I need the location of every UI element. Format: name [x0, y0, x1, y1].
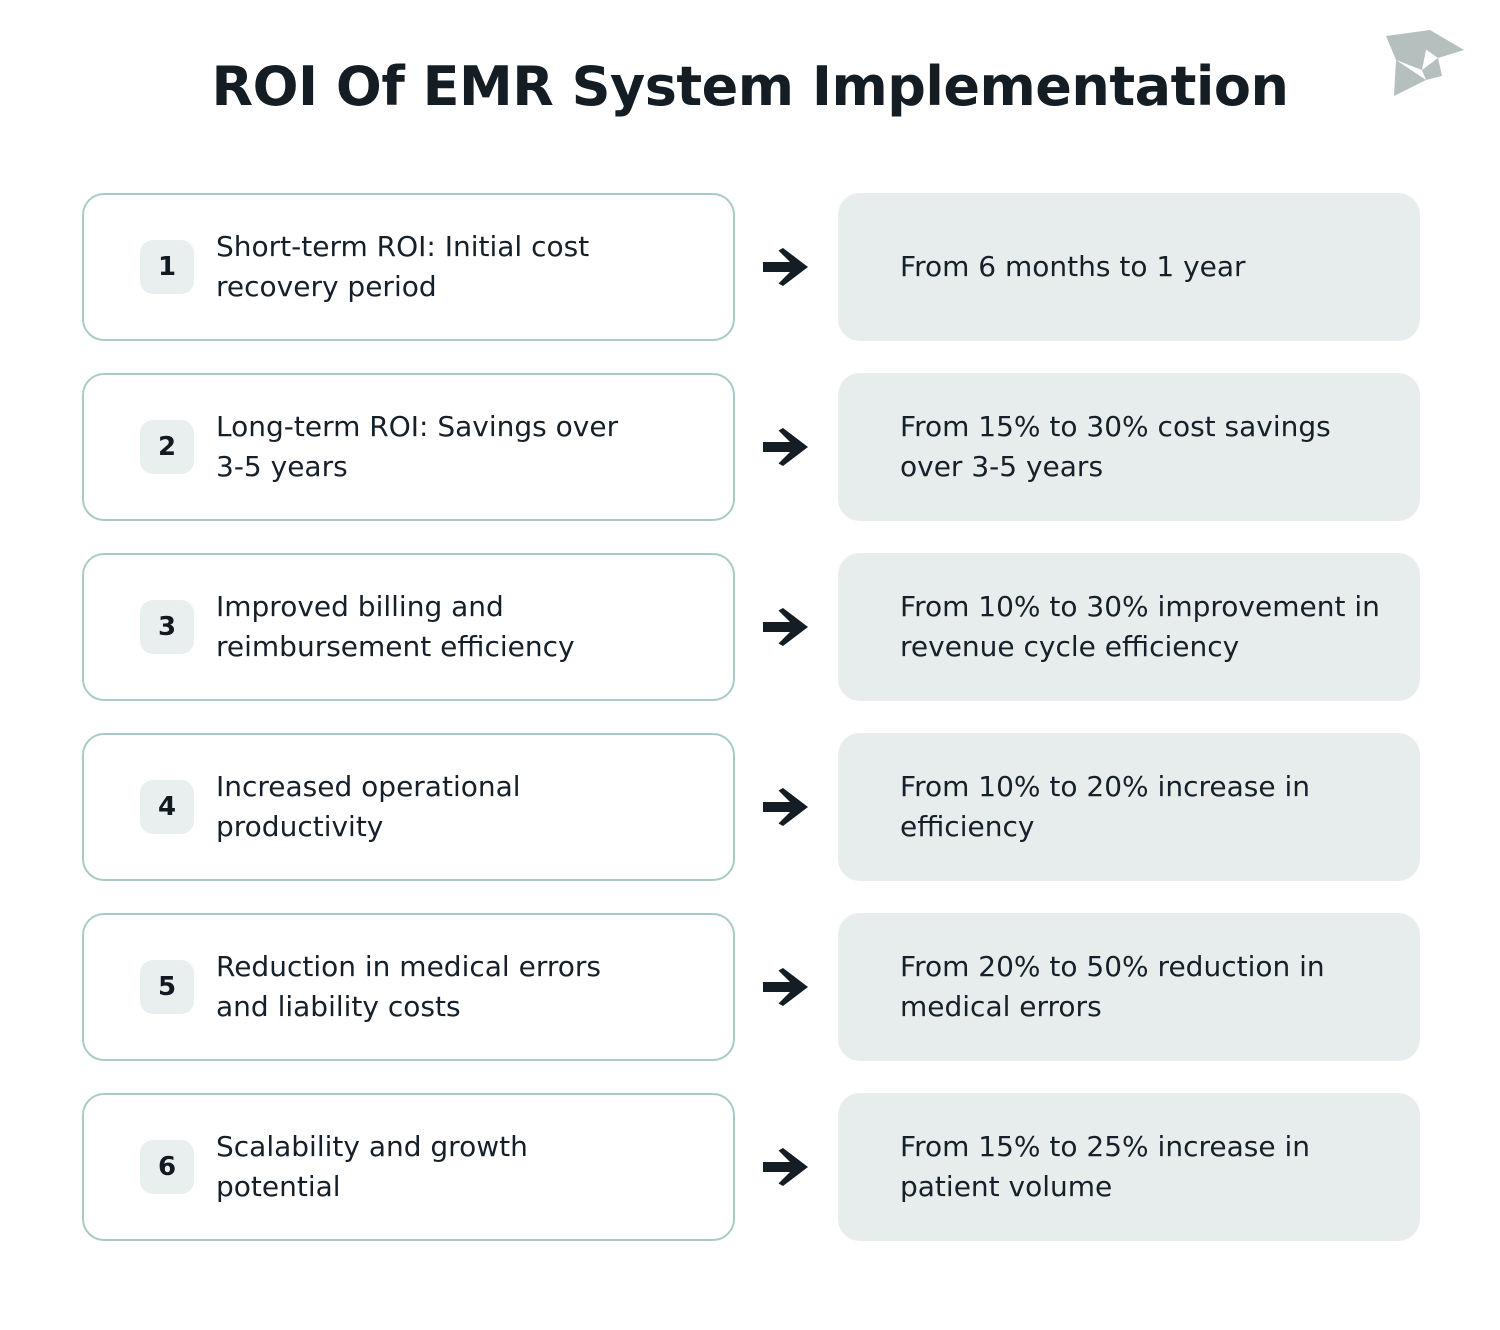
step-number-badge: 3	[140, 600, 194, 654]
outcome-label: From 20% to 50% reduction in medical err…	[900, 947, 1392, 1027]
step-number-badge: 6	[140, 1140, 194, 1194]
outcome-card-6[interactable]: From 15% to 25% increase in patient volu…	[838, 1093, 1420, 1241]
factor-card-6[interactable]: 6 Scalability and growth potential	[82, 1093, 735, 1241]
arrow-right-icon	[735, 913, 838, 1061]
outcome-label: From 10% to 30% improvement in revenue c…	[900, 587, 1392, 667]
outcome-label: From 15% to 25% increase in patient volu…	[900, 1127, 1392, 1207]
step-number-badge: 4	[140, 780, 194, 834]
roi-row: 5 Reduction in medical errors and liabil…	[82, 913, 1420, 1061]
factor-label: Improved billing and reimbursement effic…	[216, 587, 636, 667]
factor-card-5[interactable]: 5 Reduction in medical errors and liabil…	[82, 913, 735, 1061]
outcome-card-3[interactable]: From 10% to 30% improvement in revenue c…	[838, 553, 1420, 701]
roi-row: 2 Long-term ROI: Savings over 3-5 years …	[82, 373, 1420, 521]
arrow-right-icon	[735, 373, 838, 521]
factor-label: Scalability and growth potential	[216, 1127, 636, 1207]
roi-row: 4 Increased operational productivity Fro…	[82, 733, 1420, 881]
roi-row: 1 Short-term ROI: Initial cost recovery …	[82, 193, 1420, 341]
arrow-right-icon	[735, 733, 838, 881]
factor-label: Reduction in medical errors and liabilit…	[216, 947, 636, 1027]
roi-row: 6 Scalability and growth potential From …	[82, 1093, 1420, 1241]
step-number-badge: 1	[140, 240, 194, 294]
factor-label: Increased operational productivity	[216, 767, 636, 847]
outcome-label: From 6 months to 1 year	[900, 247, 1246, 287]
outcome-card-1[interactable]: From 6 months to 1 year	[838, 193, 1420, 341]
factor-card-4[interactable]: 4 Increased operational productivity	[82, 733, 735, 881]
outcome-label: From 10% to 20% increase in efficiency	[900, 767, 1392, 847]
arrow-right-icon	[735, 1093, 838, 1241]
outcome-label: From 15% to 30% cost savings over 3-5 ye…	[900, 407, 1392, 487]
factor-label: Short-term ROI: Initial cost recovery pe…	[216, 227, 636, 307]
factor-card-1[interactable]: 1 Short-term ROI: Initial cost recovery …	[82, 193, 735, 341]
factor-card-2[interactable]: 2 Long-term ROI: Savings over 3-5 years	[82, 373, 735, 521]
roi-row: 3 Improved billing and reimbursement eff…	[82, 553, 1420, 701]
factor-label: Long-term ROI: Savings over 3-5 years	[216, 407, 636, 487]
page-title: ROI Of EMR System Implementation	[0, 56, 1500, 118]
outcome-card-4[interactable]: From 10% to 20% increase in efficiency	[838, 733, 1420, 881]
step-number-badge: 5	[140, 960, 194, 1014]
step-number-badge: 2	[140, 420, 194, 474]
arrow-right-icon	[735, 553, 838, 701]
outcome-card-2[interactable]: From 15% to 30% cost savings over 3-5 ye…	[838, 373, 1420, 521]
outcome-card-5[interactable]: From 20% to 50% reduction in medical err…	[838, 913, 1420, 1061]
roi-rows-list: 1 Short-term ROI: Initial cost recovery …	[82, 193, 1420, 1241]
arrow-right-icon	[735, 193, 838, 341]
factor-card-3[interactable]: 3 Improved billing and reimbursement eff…	[82, 553, 735, 701]
